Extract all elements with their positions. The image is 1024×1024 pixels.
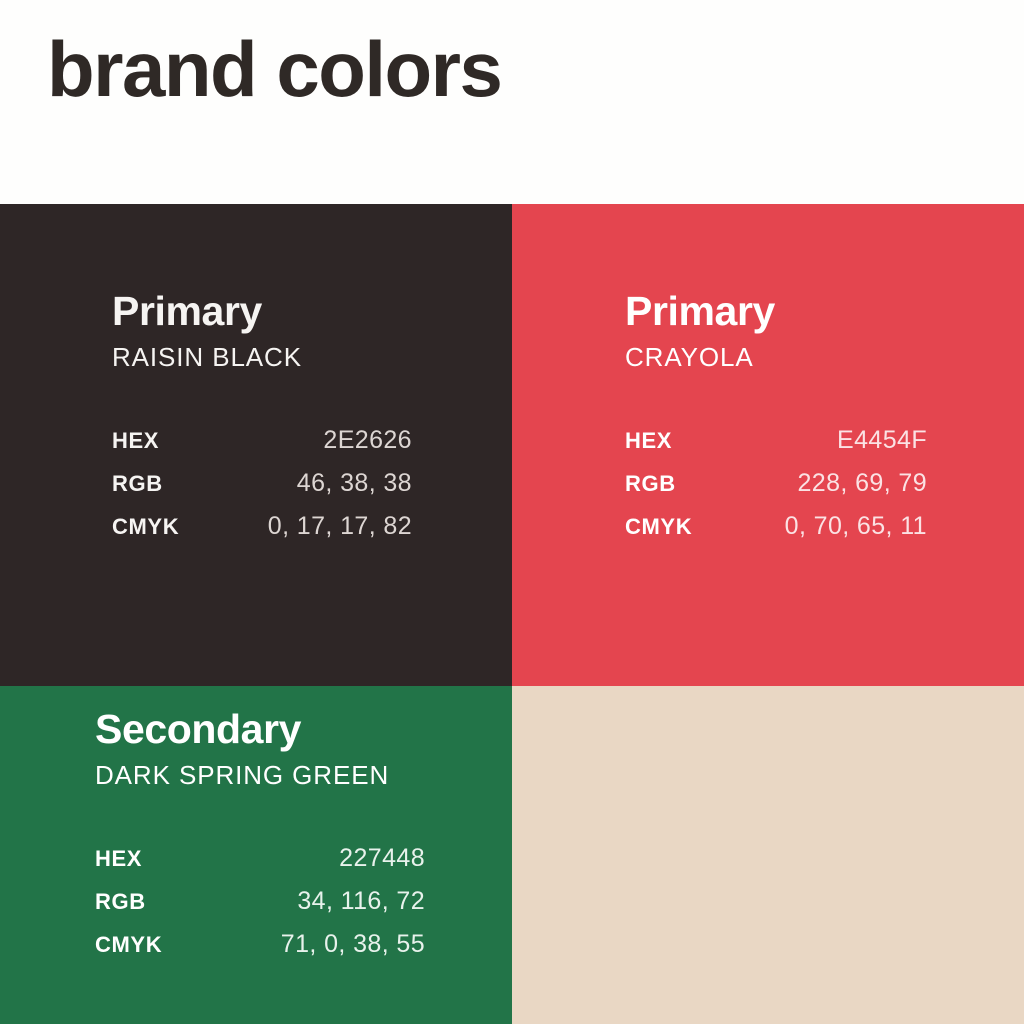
- spec-label-rgb: RGB: [625, 471, 722, 514]
- spec-row-cmyk: CMYK 0, 17, 17, 82: [112, 514, 412, 539]
- spec-row-cmyk: CMYK 71, 0, 38, 55: [95, 932, 425, 957]
- swatch-role: Primary: [625, 290, 926, 333]
- swatch-card-almond[interactable]: Secondary ALMOND HEX E9D7C4 RGB 233, 215…: [512, 686, 1024, 1024]
- swatch-name: RAISIN BLACK: [112, 343, 412, 372]
- swatch-role: Primary: [112, 290, 412, 333]
- spec-row-cmyk: CMYK 0, 70, 65, 11: [625, 514, 927, 539]
- swatch-specs: HEX 2E2626 RGB 46, 38, 38 CMYK 0, 17, 17…: [112, 428, 412, 539]
- spec-value-cmyk: 0, 70, 65, 11: [722, 514, 927, 539]
- spec-value-hex: 227448: [200, 846, 425, 889]
- spec-label-rgb: RGB: [95, 889, 200, 932]
- spec-label-rgb: RGB: [112, 471, 207, 514]
- spec-label-cmyk: CMYK: [625, 514, 722, 539]
- spec-row-rgb: RGB 34, 116, 72: [95, 889, 425, 932]
- spec-value-hex: E4454F: [722, 428, 927, 471]
- spec-label-hex: HEX: [95, 846, 200, 889]
- spec-row-hex: HEX 2E2626: [112, 428, 412, 471]
- spec-value-rgb: 46, 38, 38: [207, 471, 412, 514]
- swatch-name: CRAYOLA: [625, 343, 926, 372]
- spec-value-rgb: 34, 116, 72: [200, 889, 425, 932]
- page-title: brand colors: [47, 30, 501, 108]
- swatch-role: Secondary: [95, 708, 424, 751]
- spec-value-cmyk: 71, 0, 38, 55: [200, 932, 425, 957]
- spec-value-rgb: 228, 69, 79: [722, 471, 927, 514]
- spec-row-hex: HEX 227448: [95, 846, 425, 889]
- spec-label-cmyk: CMYK: [112, 514, 207, 539]
- spec-row-rgb: RGB 228, 69, 79: [625, 471, 927, 514]
- swatch-card-raisin-black[interactable]: Primary RAISIN BLACK HEX 2E2626 RGB 46, …: [0, 204, 512, 686]
- swatch-specs: HEX 227448 RGB 34, 116, 72 CMYK 71, 0, 3…: [95, 846, 425, 957]
- spec-value-hex: 2E2626: [207, 428, 412, 471]
- swatch-grid: Primary RAISIN BLACK HEX 2E2626 RGB 46, …: [0, 204, 1024, 1024]
- swatch-name: DARK SPRING GREEN: [95, 761, 424, 790]
- spec-label-cmyk: CMYK: [95, 932, 200, 957]
- swatch-card-crayola[interactable]: Primary CRAYOLA HEX E4454F RGB 228, 69, …: [512, 204, 1024, 686]
- spec-row-hex: HEX E4454F: [625, 428, 927, 471]
- page-header: brand colors: [0, 0, 1024, 204]
- swatch-specs: HEX E4454F RGB 228, 69, 79 CMYK 0, 70, 6…: [625, 428, 927, 539]
- spec-value-cmyk: 0, 17, 17, 82: [207, 514, 412, 539]
- brand-color-palette-page: brand colors Primary RAISIN BLACK HEX 2E…: [0, 0, 1024, 1024]
- swatch-card-dark-spring-green[interactable]: Secondary DARK SPRING GREEN HEX 227448 R…: [0, 686, 512, 1024]
- spec-row-rgb: RGB 46, 38, 38: [112, 471, 412, 514]
- spec-label-hex: HEX: [112, 428, 207, 471]
- spec-label-hex: HEX: [625, 428, 722, 471]
